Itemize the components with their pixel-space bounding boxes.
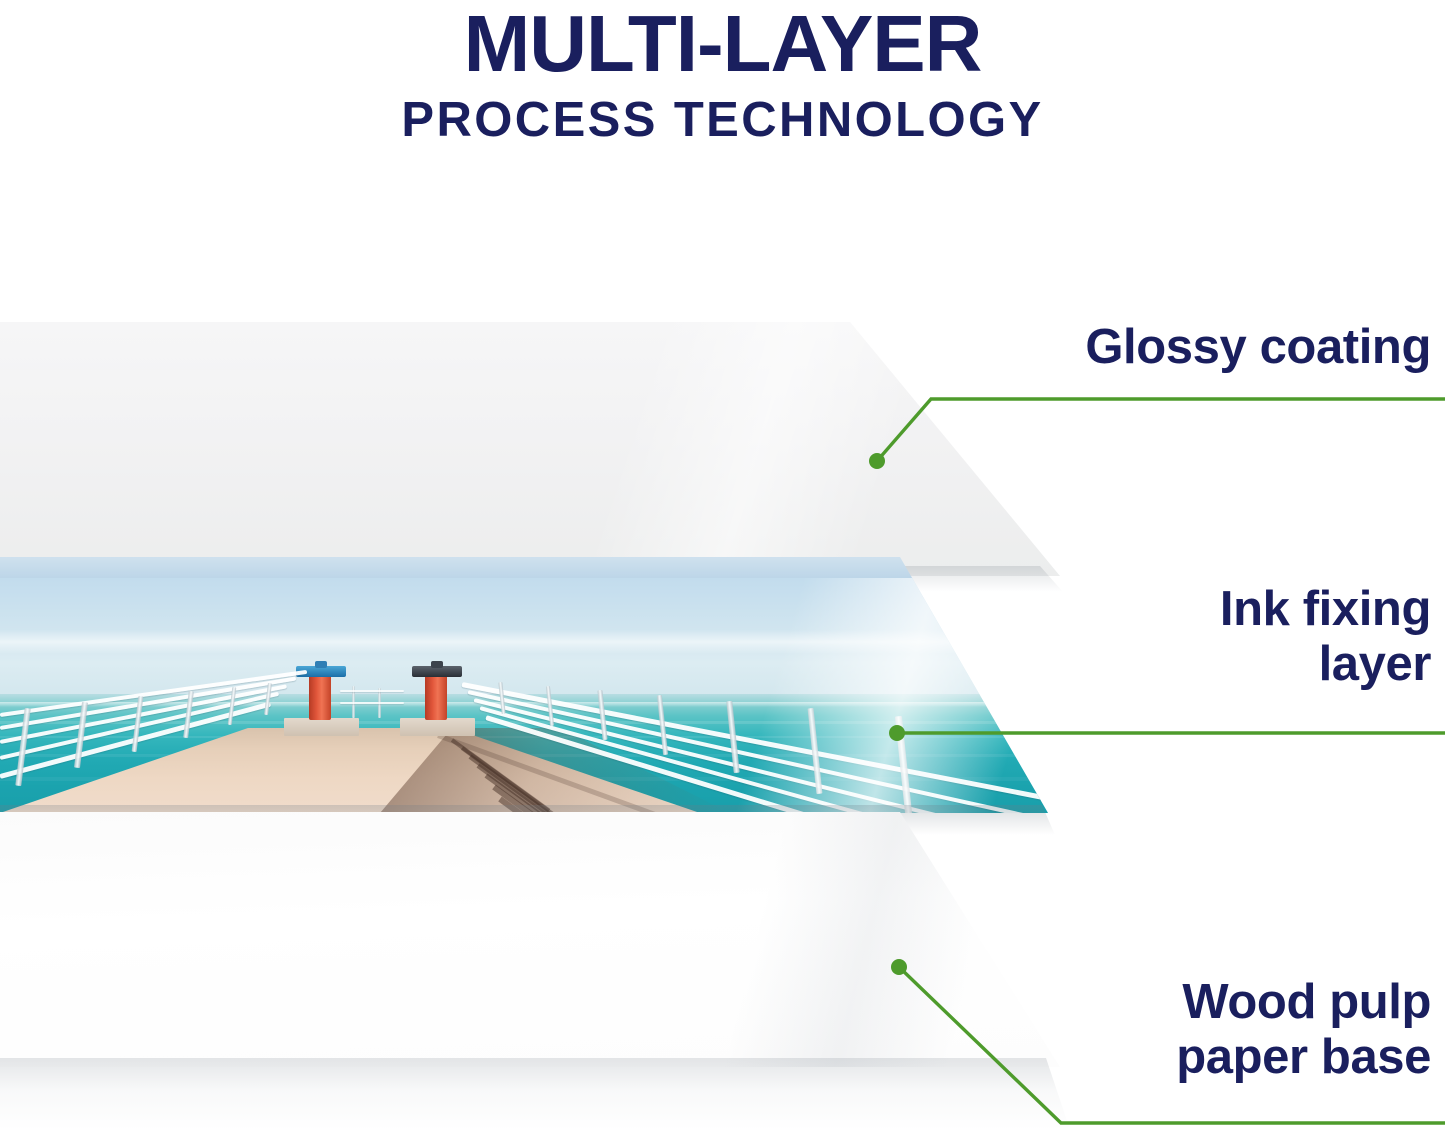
label-glossy-coating: Glossy coating	[811, 320, 1431, 375]
label-ink-fixing-layer: Ink fixing layer	[811, 582, 1431, 692]
photo-center-rail	[340, 702, 404, 704]
title-block: MULTI-LAYER PROCESS TECHNOLOGY	[0, 0, 1445, 148]
label-wood-pulp-paper-base: Wood pulp paper base	[811, 975, 1431, 1085]
photo-pedestal-right	[400, 718, 475, 736]
label-ink-fixing-line1: Ink fixing	[811, 582, 1431, 637]
photo-pillar-left	[309, 675, 331, 720]
label-wood-pulp-line2: paper base	[811, 1030, 1431, 1085]
photo-pillar-right	[425, 675, 447, 720]
label-ink-fixing-line2: layer	[811, 637, 1431, 692]
page-subtitle: PROCESS TECHNOLOGY	[0, 86, 1445, 148]
photo-telescope-blue-stem	[315, 661, 327, 668]
layer-stack-diagram	[0, 0, 1445, 1130]
ink-layer-top-edge	[0, 557, 1048, 579]
photo-pedestal-left	[284, 718, 359, 736]
label-glossy-coating-line1: Glossy coating	[811, 320, 1431, 375]
label-wood-pulp-line1: Wood pulp	[811, 975, 1431, 1030]
photo-telescope-dark-stem	[431, 661, 443, 668]
page-title: MULTI-LAYER	[0, 0, 1445, 86]
photo-center-rail	[340, 690, 404, 692]
